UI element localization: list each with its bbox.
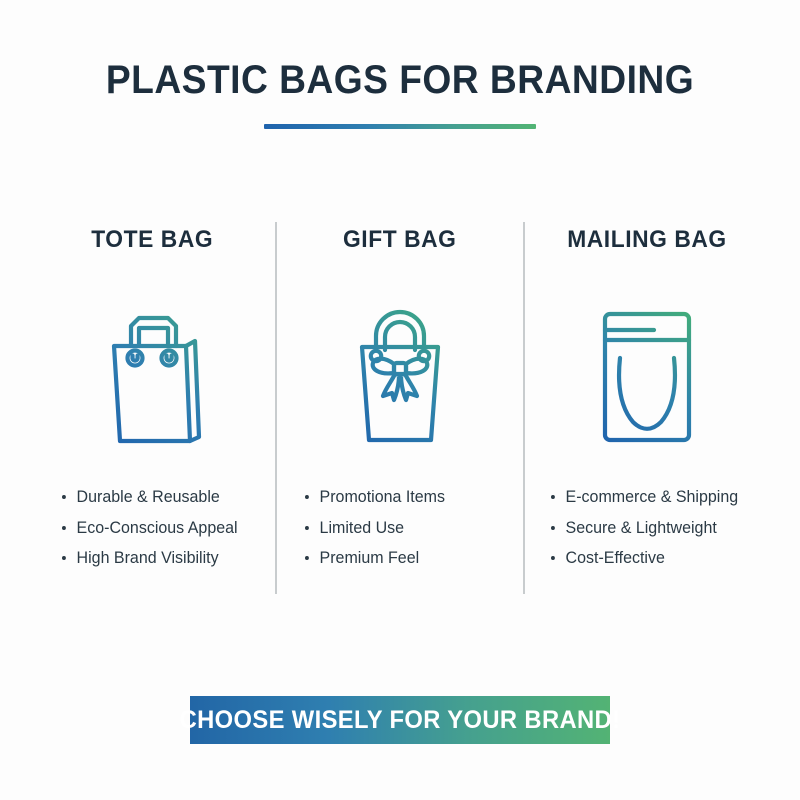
- mailing-bag-icon: [592, 300, 702, 445]
- bullet-list-tote-bag: Durable & Reusable Eco-Conscious Appeal …: [30, 489, 275, 567]
- list-item: Premium Feel: [305, 550, 516, 567]
- column-tote-bag: TOTE BAG: [30, 222, 275, 594]
- list-item: Cost-Effective: [551, 550, 764, 567]
- gift-bag-icon: [345, 300, 455, 445]
- list-item: Secure & Lightweight: [551, 520, 764, 537]
- list-item: E-commerce & Shipping: [551, 489, 764, 506]
- list-item: Promotiona Items: [305, 489, 516, 506]
- list-item: Eco-Conscious Appeal: [62, 520, 269, 537]
- column-title-mailing-bag: MAILING BAG: [568, 228, 728, 252]
- tote-bag-icon: [98, 300, 208, 445]
- page-title: PLASTIC BAGS FOR BRANDING: [28, 60, 772, 100]
- title-underline-rule: [264, 124, 536, 129]
- bullet-list-gift-bag: Promotiona Items Limited Use Premium Fee…: [277, 489, 522, 567]
- cta-banner[interactable]: CHOOSE WISELY FOR YOUR BRAND!: [190, 696, 610, 744]
- list-item: Limited Use: [305, 520, 516, 537]
- column-gift-bag: GIFT BAG: [277, 222, 522, 594]
- list-item: High Brand Visibility: [62, 550, 269, 567]
- bullet-list-mailing-bag: E-commerce & Shipping Secure & Lightweig…: [525, 489, 770, 567]
- column-title-tote-bag: TOTE BAG: [92, 228, 214, 252]
- column-title-gift-bag: GIFT BAG: [343, 228, 456, 252]
- column-mailing-bag: MAILING BAG: [525, 222, 770, 594]
- title-block: PLASTIC BAGS FOR BRANDING: [0, 60, 800, 129]
- list-item: Durable & Reusable: [62, 489, 269, 506]
- comparison-columns: TOTE BAG: [30, 222, 770, 594]
- cta-banner-label: CHOOSE WISELY FOR YOUR BRAND!: [180, 708, 621, 733]
- infographic-poster: PLASTIC BAGS FOR BRANDING TOTE BAG: [0, 0, 800, 800]
